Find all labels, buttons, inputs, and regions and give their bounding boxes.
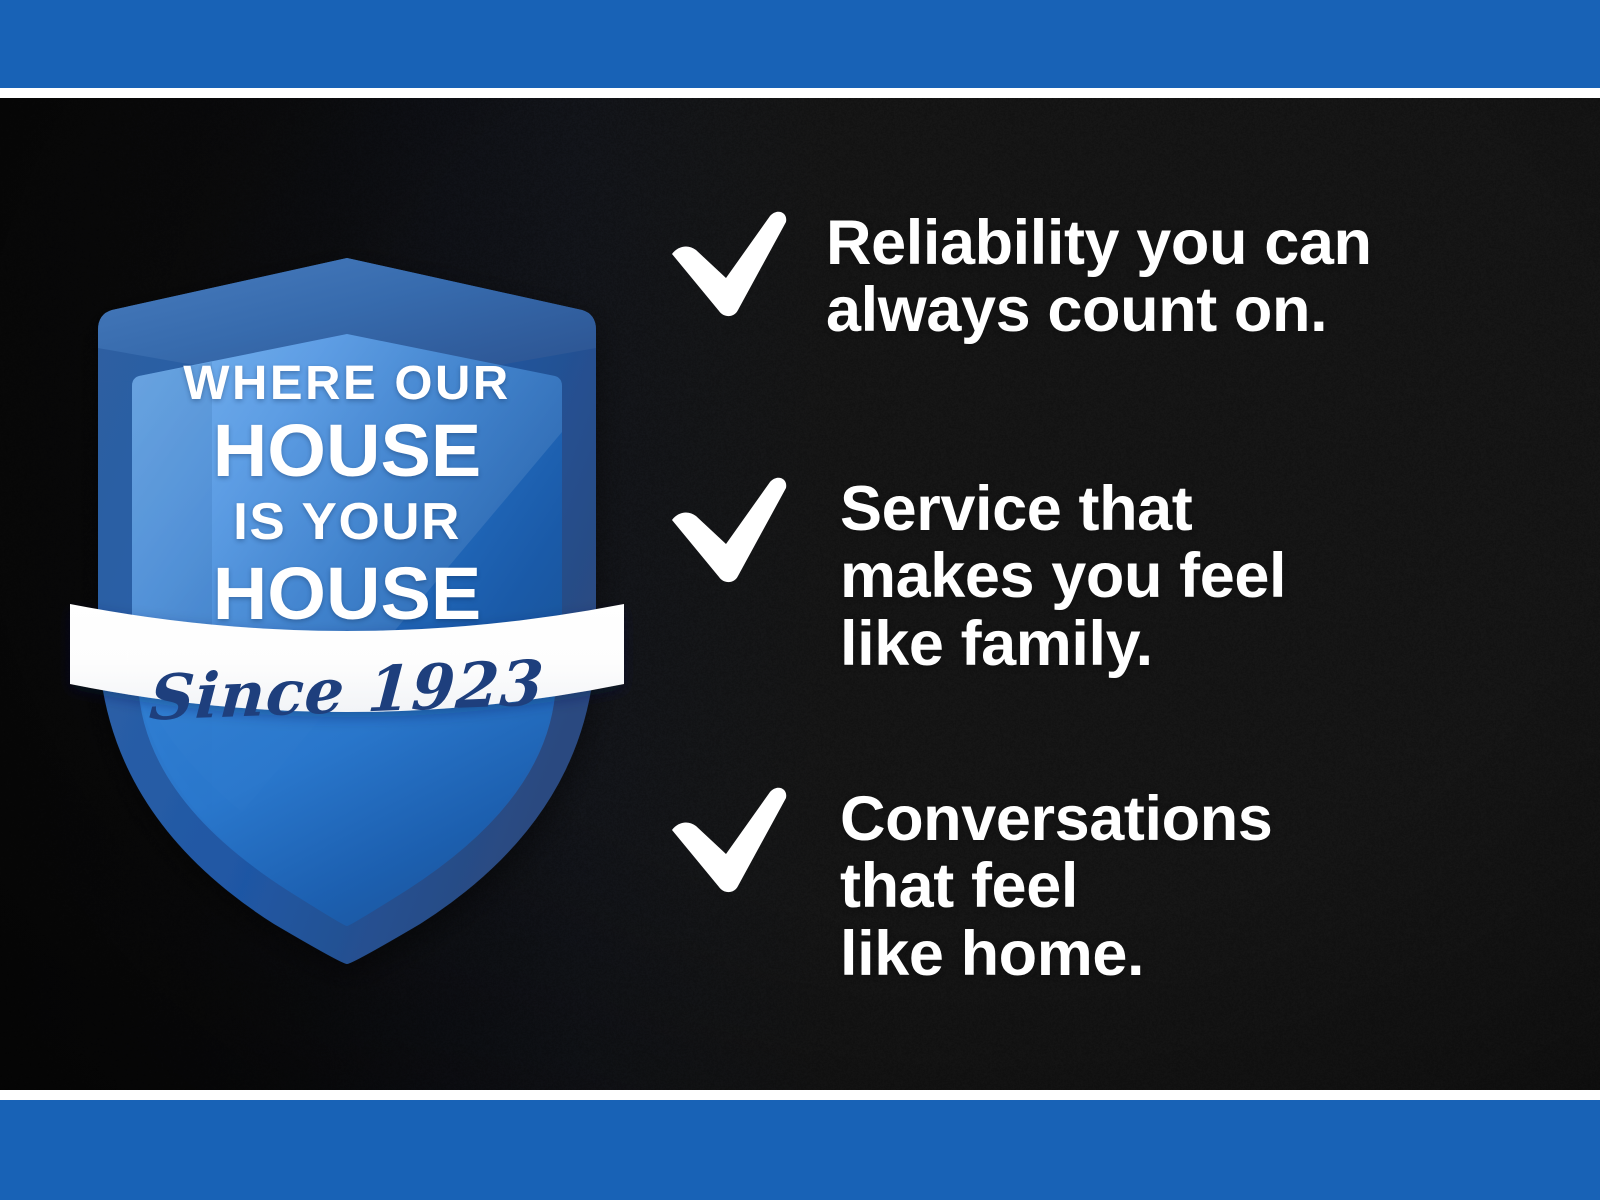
check-icon [660, 476, 790, 586]
promo-graphic: WHERE OUR HOUSE IS YOUR HOUSE Since 1923… [0, 0, 1600, 1200]
badge-line-3: IS YOUR [56, 496, 637, 548]
list-item: Service that makes you feel like family. [660, 476, 1286, 678]
list-item-line: Conversations [840, 786, 1272, 853]
badge-line-1: WHERE OUR [56, 360, 637, 408]
top-brand-bar [0, 0, 1600, 88]
list-item-line: always count on. [826, 277, 1372, 344]
list-item-line: makes you feel [840, 543, 1286, 610]
list-item-line: that feel [840, 853, 1272, 920]
bottom-brand-bar [0, 1100, 1600, 1200]
list-item-line: like home. [840, 921, 1272, 988]
list-item-line: like family. [840, 611, 1286, 678]
list-item-text: Reliability you can always count on. [826, 210, 1372, 345]
list-item: Reliability you can always count on. [660, 210, 1372, 345]
check-icon [660, 786, 790, 896]
list-item: Conversations that feel like home. [660, 786, 1272, 988]
list-item-line: Service that [840, 476, 1286, 543]
badge-line-2: HOUSE [56, 414, 637, 488]
badge-line-4: HOUSE [56, 557, 637, 631]
benefits-list: Reliability you can always count on. Ser… [660, 98, 1560, 1090]
check-icon [660, 210, 790, 320]
list-item-text: Conversations that feel like home. [840, 786, 1272, 988]
list-item-text: Service that makes you feel like family. [840, 476, 1286, 678]
list-item-line: Reliability you can [826, 210, 1372, 277]
badge-shield: WHERE OUR HOUSE IS YOUR HOUSE Since 1923 [62, 252, 632, 952]
